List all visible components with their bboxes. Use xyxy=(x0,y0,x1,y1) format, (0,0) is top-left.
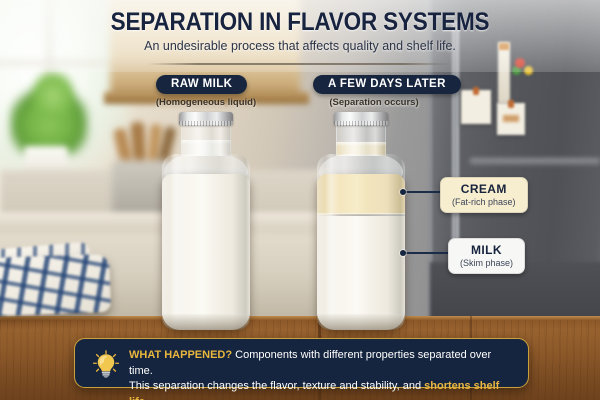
bottle-cap-ridge xyxy=(179,121,233,126)
note-scribble xyxy=(503,115,519,122)
leader-line-cream xyxy=(404,191,442,193)
annotation-cream-subtitle: (Fat-rich phase) xyxy=(452,197,516,207)
kitchen-towel xyxy=(0,254,111,316)
callout-line2-prefix: This separation changes the flavor, text… xyxy=(129,380,424,392)
refrigerator-trim xyxy=(470,158,600,165)
annotation-cream-title: CREAM xyxy=(452,182,516,196)
annotation-cream: CREAM (Fat-rich phase) xyxy=(440,177,528,213)
bottle-body xyxy=(317,174,405,330)
bottle-neck xyxy=(181,124,231,156)
bottle-separated xyxy=(313,112,409,330)
skim-milk-layer xyxy=(317,216,405,330)
leader-line-milk xyxy=(404,252,450,254)
cream-layer xyxy=(317,174,405,214)
what-happened-callout: WHAT HAPPENED? Components with different… xyxy=(74,338,529,388)
leader-dot-cream xyxy=(400,189,406,195)
note-pin xyxy=(508,100,514,108)
bottle-raw-milk xyxy=(158,112,254,330)
page-title: SEPARATION IN FLAVOR SYSTEMS xyxy=(30,8,570,37)
annotation-milk: MILK (Skim phase) xyxy=(448,238,525,274)
annotation-milk-title: MILK xyxy=(460,243,513,257)
callout-text: WHAT HAPPENED? Components with different… xyxy=(129,348,516,400)
panel-caption-a-few-days-later: (Separation occurs) xyxy=(284,97,464,108)
annotation-milk-subtitle: (Skim phase) xyxy=(460,258,513,268)
lightbulb-icon xyxy=(91,349,121,379)
fridge-note xyxy=(461,90,491,124)
bottle-neck xyxy=(336,124,386,156)
potted-plant-top xyxy=(32,72,74,116)
panel-badge-a-few-days-later: A FEW DAYS LATER xyxy=(313,75,461,94)
fridge-note xyxy=(497,103,525,135)
note-pin xyxy=(473,87,479,95)
milk-fill xyxy=(162,174,250,330)
bottle-body xyxy=(162,174,250,330)
page-subtitle: An undesirable process that affects qual… xyxy=(0,39,600,53)
panel-badge-raw-milk: RAW MILK xyxy=(156,75,247,94)
bottle-cap-ridge xyxy=(334,121,388,126)
header-divider xyxy=(148,63,452,65)
panel-caption-raw-milk: (Homogeneous liquid) xyxy=(116,97,296,108)
callout-line2: This separation changes the flavor, text… xyxy=(129,379,516,400)
leader-dot-milk xyxy=(400,250,406,256)
callout-heading: WHAT HAPPENED? xyxy=(129,349,232,361)
countertop-front-edge xyxy=(0,316,600,320)
infographic-canvas: SEPARATION IN FLAVOR SYSTEMS An undesira… xyxy=(0,0,600,400)
